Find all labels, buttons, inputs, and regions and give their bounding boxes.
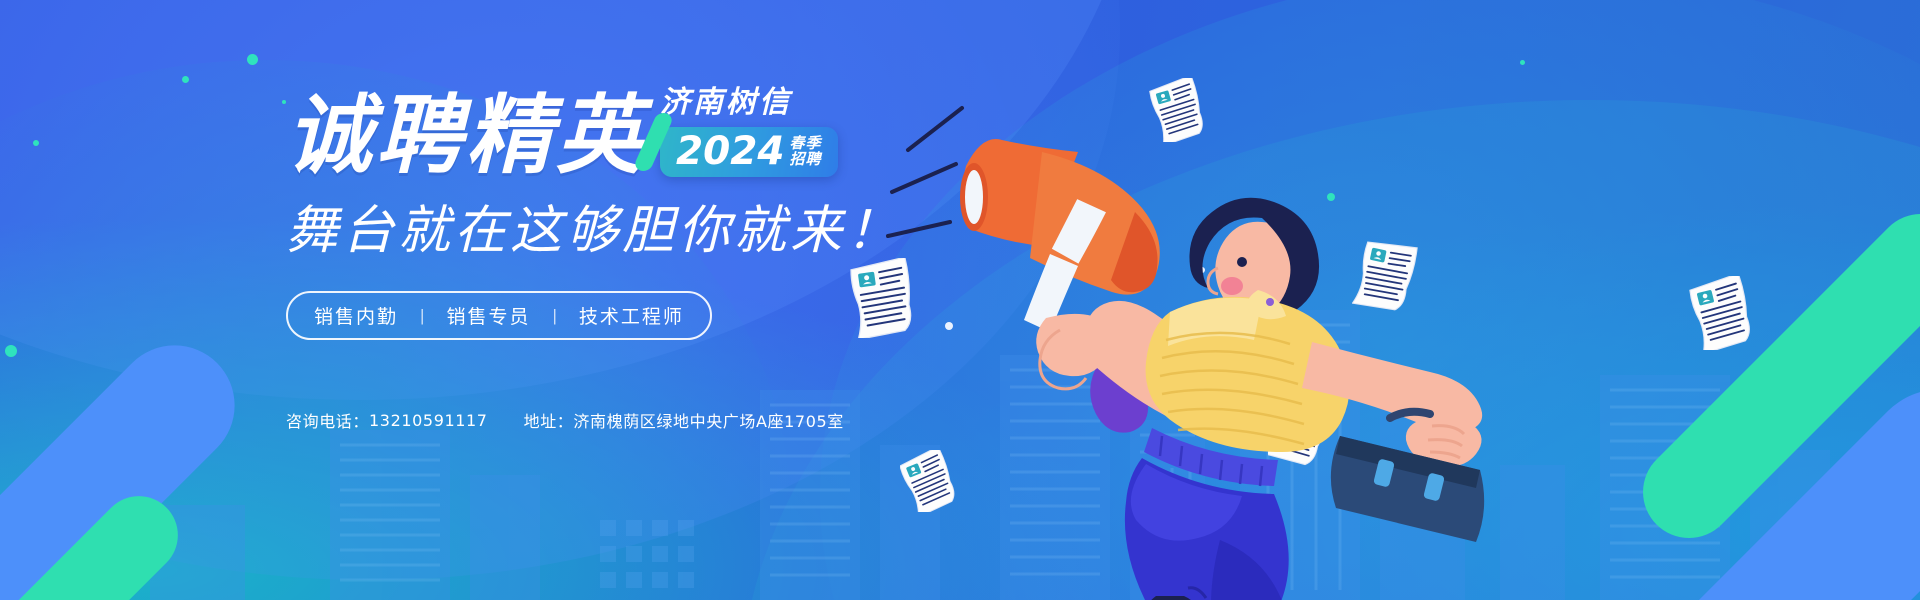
page-title: 诚聘精英 <box>286 93 646 179</box>
job-tag-2[interactable]: 销售专员 <box>446 302 530 329</box>
contact-info: 咨询电话： 13210591117 地址： 济南槐荫区绿地中央广场A座1705室 <box>286 408 844 432</box>
phone-value[interactable]: 13210591117 <box>369 411 488 430</box>
resume-paper-icon <box>1687 276 1759 350</box>
decor-dot <box>33 140 39 146</box>
decor-dot <box>5 345 17 357</box>
brand-block: 济南树信 2024 春季 招聘 <box>660 88 838 179</box>
page-subtitle: 舞台就在这够胆你就来！ <box>286 205 986 257</box>
phone-label: 咨询电话： <box>286 408 369 432</box>
job-tags-pill: 销售内勤 | 销售专员 | 技术工程师 <box>286 291 712 340</box>
address-label: 地址： <box>524 408 574 432</box>
decor-dot <box>247 54 258 65</box>
banner-copy: 诚聘精英 济南树信 2024 春季 招聘 舞台就在这够胆你就来！ 销售内勤 | … <box>286 88 986 340</box>
tag-separator: | <box>552 306 556 326</box>
job-tag-3[interactable]: 技术工程师 <box>579 302 684 329</box>
job-tag-1[interactable]: 销售内勤 <box>314 302 398 329</box>
decor-dot <box>182 76 189 83</box>
character-cheek <box>1221 277 1243 295</box>
address-value: 济南槐荫区绿地中央广场A座1705室 <box>573 408 843 432</box>
badge-year: 2024 <box>676 132 785 171</box>
badge-line-2: 招聘 <box>790 152 822 167</box>
company-name: 济南树信 <box>660 88 838 118</box>
tag-separator: | <box>420 306 424 326</box>
decor-dot <box>1520 60 1525 65</box>
season-badge: 2024 春季 招聘 <box>660 127 838 177</box>
headline-row: 诚聘精英 济南树信 2024 春季 招聘 <box>286 88 986 179</box>
recruitment-banner: 诚聘精英 济南树信 2024 春季 招聘 舞台就在这够胆你就来！ 销售内勤 | … <box>0 0 1920 600</box>
character-eye <box>1237 257 1247 267</box>
badge-subtext: 春季 招聘 <box>790 136 822 167</box>
